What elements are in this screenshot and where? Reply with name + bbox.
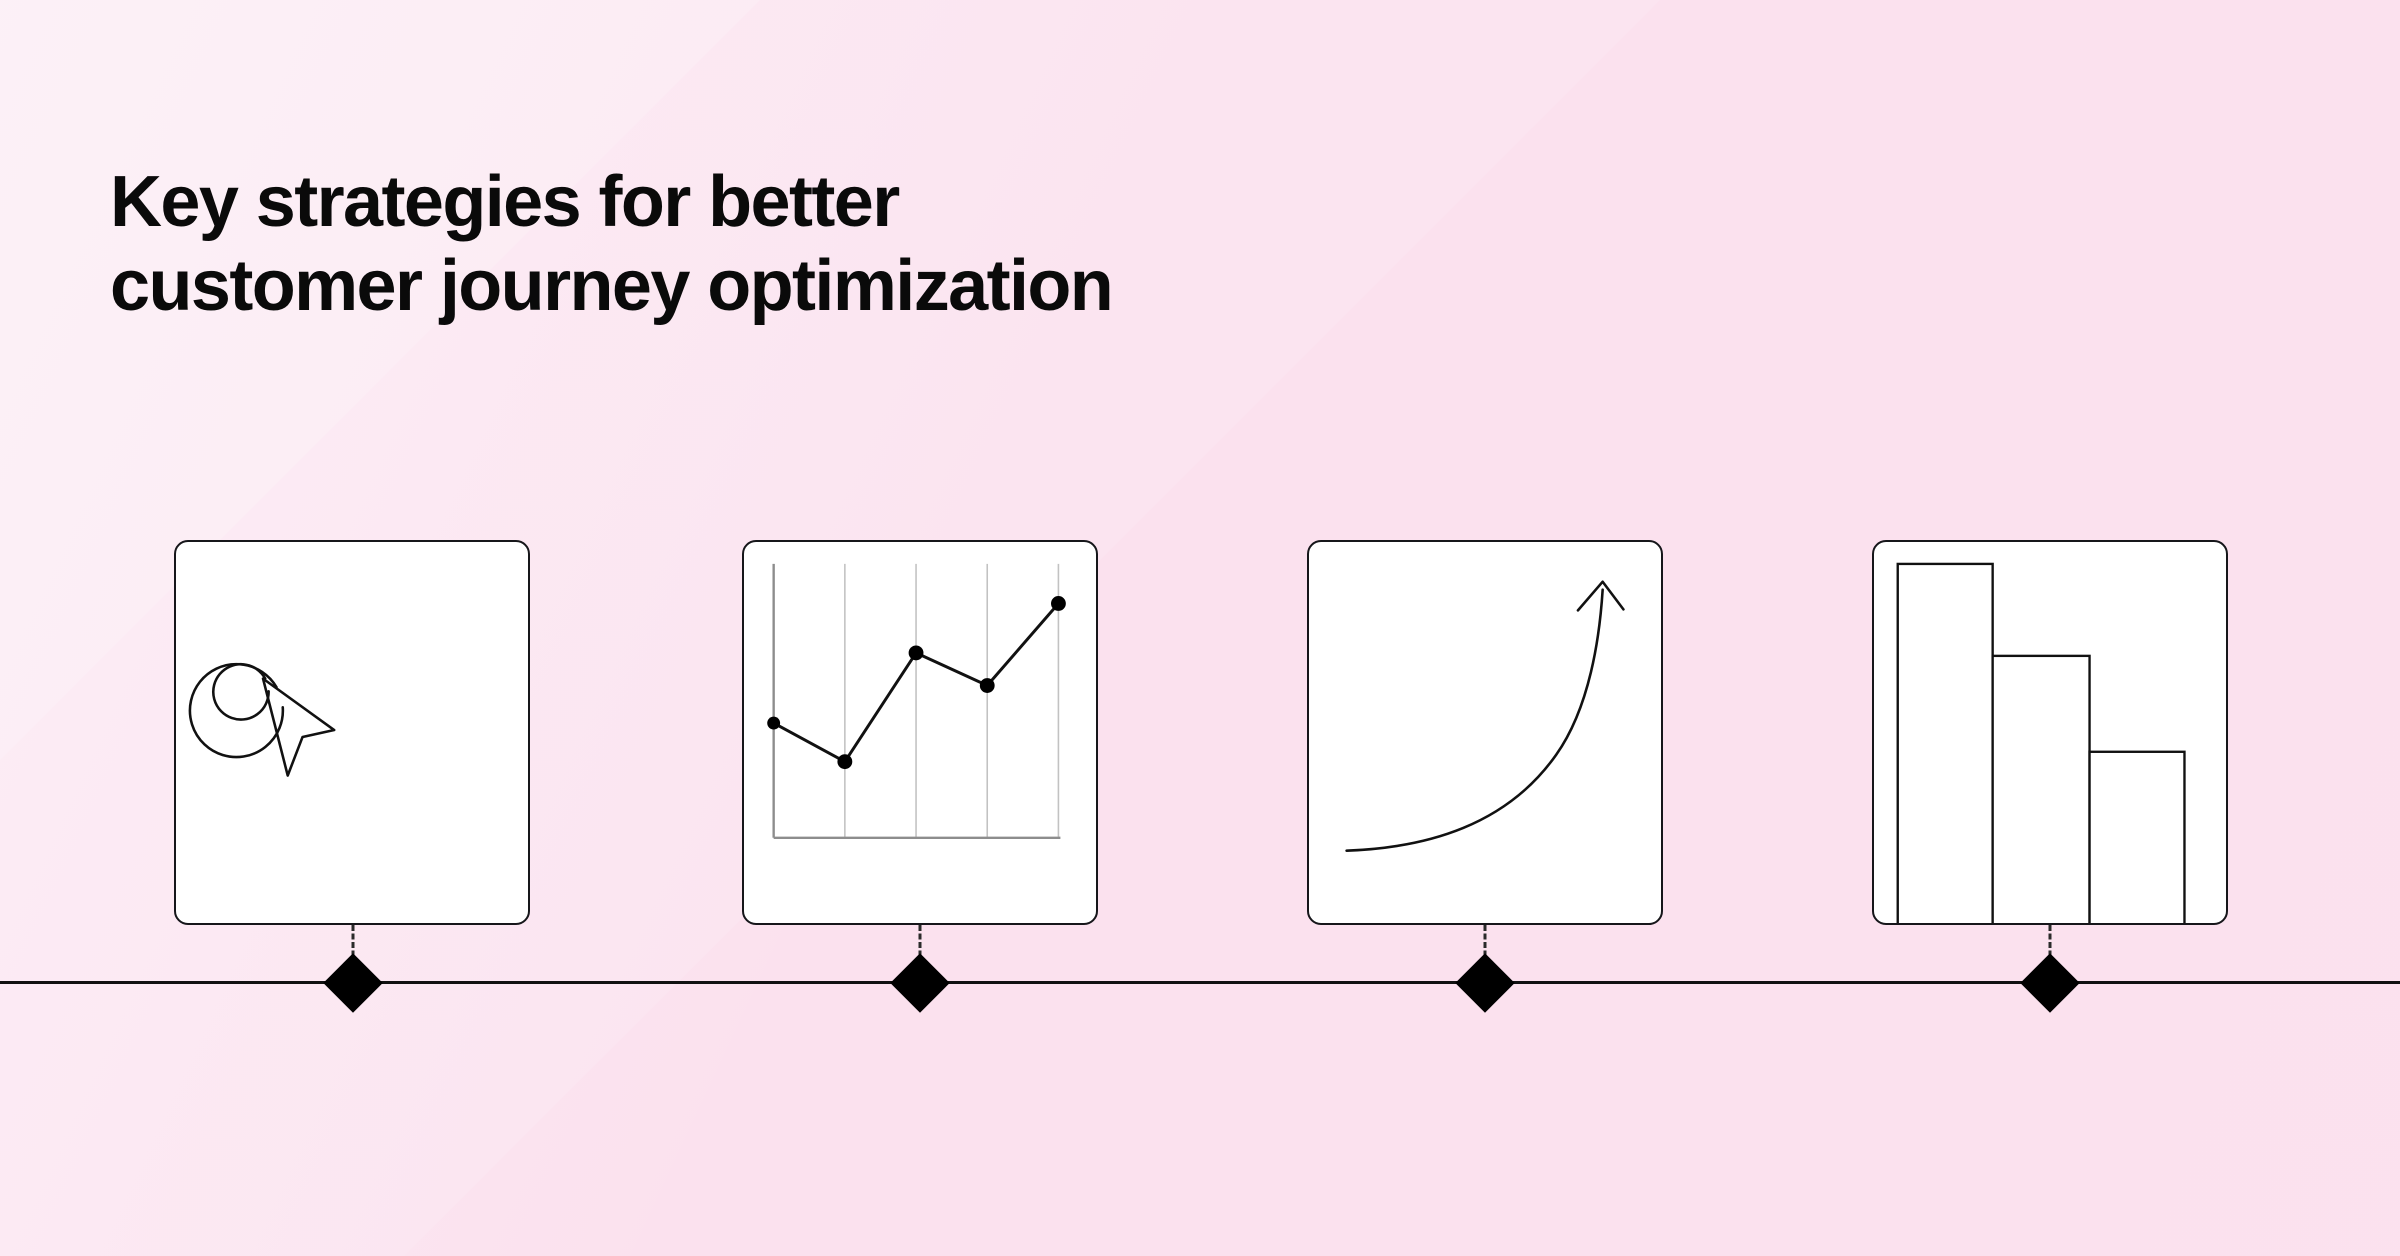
timeline-marker-3[interactable] [1455, 953, 1514, 1012]
timeline-marker-4[interactable] [2020, 953, 2079, 1012]
card-bar-chart[interactable] [1872, 540, 2228, 925]
page-title: Key strategies for better customer journ… [110, 160, 1410, 328]
chart-gridlines [845, 564, 1059, 837]
chart-bars [1898, 564, 2185, 923]
card-click[interactable] [174, 540, 530, 925]
line-chart-icon [744, 542, 1096, 923]
click-cursor-icon [176, 542, 528, 923]
growth-arrow-icon [1309, 542, 1661, 923]
timeline-marker-2[interactable] [890, 953, 949, 1012]
card-line-chart[interactable] [742, 540, 1098, 925]
chart-axes [774, 564, 1061, 838]
timeline-marker-1[interactable] [323, 953, 382, 1012]
slide-canvas: Key strategies for better customer journ… [0, 0, 2400, 1256]
bar-chart-icon [1874, 542, 2226, 923]
card-growth-arrow[interactable] [1307, 540, 1663, 925]
